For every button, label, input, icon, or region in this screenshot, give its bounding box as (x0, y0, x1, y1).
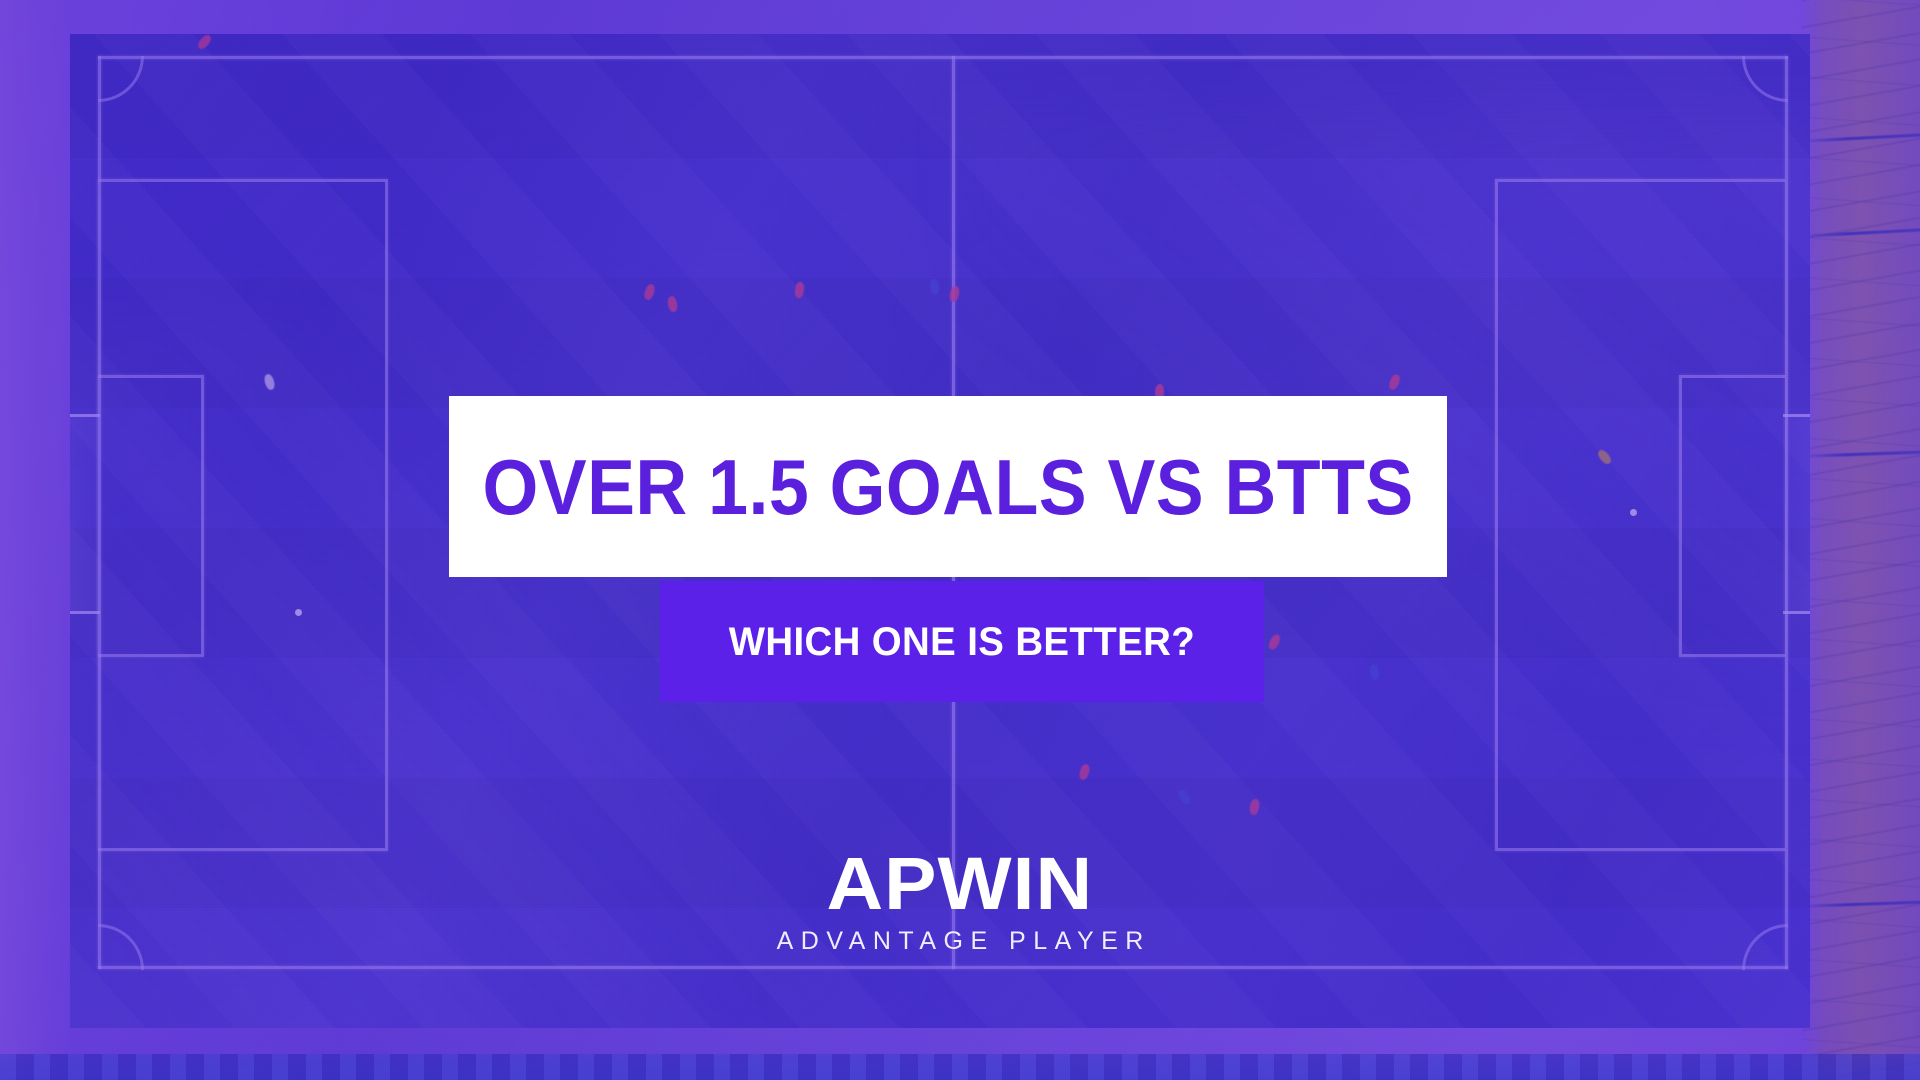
logo-tagline: ADVANTAGE PLAYER (769, 929, 1151, 954)
page-title: OVER 1.5 GOALS VS BTTS (482, 448, 1413, 526)
subtitle-plate: WHICH ONE IS BETTER? (660, 581, 1264, 702)
banner-canvas: OVER 1.5 GOALS VS BTTS WHICH ONE IS BETT… (0, 0, 1920, 1080)
brand-logo: APWIN ADVANTAGE PLAYER (0, 848, 1920, 954)
page-subtitle: WHICH ONE IS BETTER? (729, 622, 1195, 662)
logo-wordmark: APWIN (827, 848, 1094, 919)
banner-content: OVER 1.5 GOALS VS BTTS WHICH ONE IS BETT… (0, 0, 1920, 1080)
title-plate: OVER 1.5 GOALS VS BTTS (449, 396, 1447, 577)
